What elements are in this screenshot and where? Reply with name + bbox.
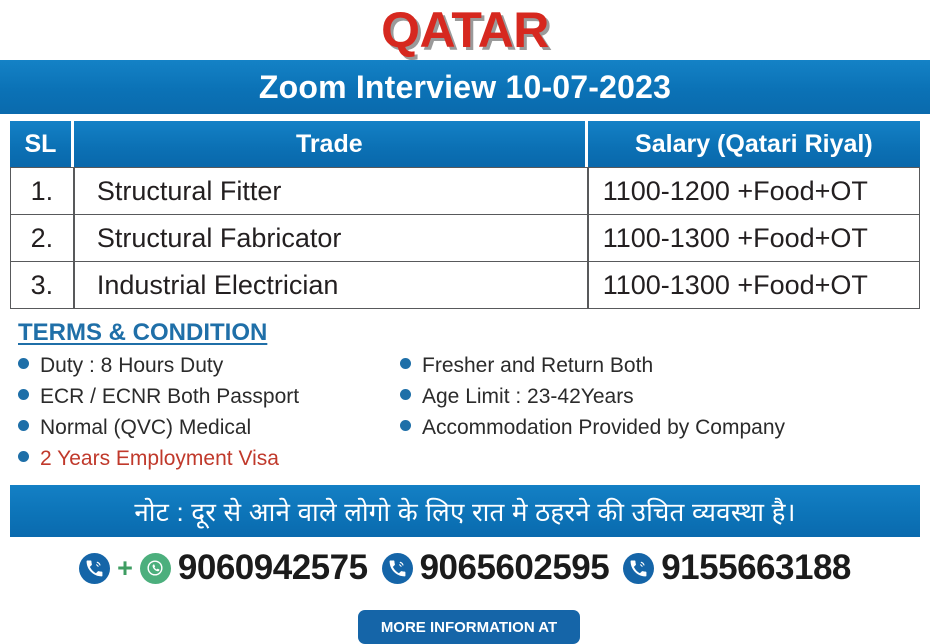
table-row: 1. Structural Fitter 1100-1200 +Food+OT: [10, 167, 920, 215]
term-text: Duty : 8 Hours Duty: [40, 353, 223, 378]
column-header-sl: SL: [10, 121, 74, 167]
list-item: 2 Years Employment Visa: [18, 446, 400, 471]
cell-trade: Structural Fabricator: [74, 215, 588, 262]
term-text: ECR / ECNR Both Passport: [40, 384, 299, 409]
table-row: 2. Structural Fabricator 1100-1300 +Food…: [10, 215, 920, 262]
more-information-label: MORE INFORMATION AT: [381, 619, 557, 636]
list-item: Age Limit : 23-42Years: [400, 384, 900, 409]
list-item: Accommodation Provided by Company: [400, 415, 900, 440]
contact-item[interactable]: + 9060942575: [79, 548, 367, 588]
bullet-icon: [18, 389, 29, 400]
bullet-icon: [400, 358, 411, 369]
more-information-button[interactable]: MORE INFORMATION AT: [358, 610, 580, 644]
list-item: Normal (QVC) Medical: [18, 415, 400, 440]
whatsapp-icon: [140, 553, 171, 584]
phone-number[interactable]: 9065602595: [420, 548, 610, 588]
cell-sl: 1.: [10, 167, 74, 215]
interview-banner: Zoom Interview 10-07-2023: [0, 60, 930, 114]
column-header-trade: Trade: [74, 121, 588, 167]
interview-banner-text: Zoom Interview 10-07-2023: [259, 69, 671, 106]
contact-item[interactable]: 9065602595: [382, 548, 610, 588]
term-text: Normal (QVC) Medical: [40, 415, 251, 440]
bullet-icon: [18, 358, 29, 369]
bullet-icon: [18, 420, 29, 431]
term-text: Fresher and Return Both: [422, 353, 653, 378]
country-title-band: QATAR: [0, 0, 930, 60]
list-item: Fresher and Return Both: [400, 353, 900, 378]
list-item: ECR / ECNR Both Passport: [18, 384, 400, 409]
bullet-icon: [18, 451, 29, 462]
cell-sl: 2.: [10, 215, 74, 262]
phone-number[interactable]: 9060942575: [178, 548, 368, 588]
term-text-highlighted: 2 Years Employment Visa: [40, 446, 279, 471]
table-row: 3. Industrial Electrician 1100-1300 +Foo…: [10, 262, 920, 309]
cell-salary: 1100-1300 +Food+OT: [588, 262, 920, 309]
term-text: Age Limit : 23-42Years: [422, 384, 634, 409]
term-text: Accommodation Provided by Company: [422, 415, 785, 440]
phone-icon: [382, 553, 413, 584]
column-header-salary: Salary (Qatari Riyal): [588, 121, 920, 167]
plus-sign: +: [117, 555, 133, 582]
terms-column-left: Duty : 8 Hours Duty ECR / ECNR Both Pass…: [18, 353, 400, 477]
terms-columns: Duty : 8 Hours Duty ECR / ECNR Both Pass…: [18, 353, 930, 477]
note-text: नोट : दूर से आने वाले लोगो के लिए रात मे…: [134, 493, 795, 529]
page-title: QATAR: [381, 5, 549, 55]
jobs-table: SL Trade Salary (Qatari Riyal) 1. Struct…: [10, 121, 920, 309]
terms-column-right: Fresher and Return Both Age Limit : 23-4…: [400, 353, 900, 477]
terms-section: TERMS & CONDITION Duty : 8 Hours Duty EC…: [0, 309, 930, 477]
cell-trade: Structural Fitter: [74, 167, 588, 215]
note-banner: नोट : दूर से आने वाले लोगो के लिए रात मे…: [10, 485, 920, 537]
phone-icon: [623, 553, 654, 584]
table-header-row: SL Trade Salary (Qatari Riyal): [10, 121, 920, 167]
bullet-icon: [400, 389, 411, 400]
contact-item[interactable]: 9155663188: [623, 548, 851, 588]
cell-salary: 1100-1300 +Food+OT: [588, 215, 920, 262]
cell-sl: 3.: [10, 262, 74, 309]
cell-trade: Industrial Electrician: [74, 262, 588, 309]
phone-icon: [79, 553, 110, 584]
phone-number[interactable]: 9155663188: [661, 548, 851, 588]
list-item: Duty : 8 Hours Duty: [18, 353, 400, 378]
bullet-icon: [400, 420, 411, 431]
cell-salary: 1100-1200 +Food+OT: [588, 167, 920, 215]
terms-heading: TERMS & CONDITION: [18, 319, 930, 347]
contact-numbers: + 9060942575 9065602595 9155663188: [0, 543, 930, 593]
